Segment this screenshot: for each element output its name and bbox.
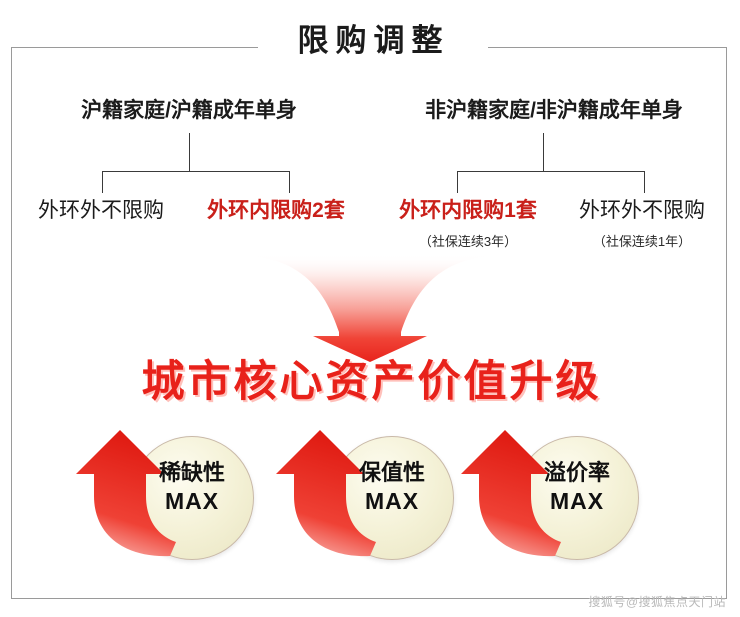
policy-main-4: 外环外不限购 <box>556 197 728 225</box>
badge-label-2: 保值性 <box>328 460 456 486</box>
badge-label-3: 溢价率 <box>513 460 641 486</box>
watermark: 搜狐号@搜狐焦点天门站 <box>588 593 726 610</box>
policy-sub-3: （社保连续3年） <box>378 228 558 256</box>
badge-text-1: 稀缺性 MAX <box>128 460 256 515</box>
connector-right-stem <box>543 133 544 171</box>
policy-label-2: 外环内限购2套 <box>186 197 366 228</box>
policy-main-3: 外环内限购1套 <box>378 197 558 225</box>
connector-right-bar <box>457 171 645 172</box>
connector-right-drop-2 <box>644 171 645 193</box>
badge-text-3: 溢价率 MAX <box>513 460 641 515</box>
page-title: 限购调整 <box>0 21 740 61</box>
badge-value-retention: 保值性 MAX <box>272 422 472 572</box>
category-header-local: 沪籍家庭/沪籍成年单身 <box>44 96 334 126</box>
policy-main-1: 外环外不限购 <box>16 197 186 225</box>
badge-label-1: 稀缺性 <box>128 460 256 486</box>
connector-left-stem <box>189 133 190 171</box>
infographic-root: 限购调整 沪籍家庭/沪籍成年单身 非沪籍家庭/非沪籍成年单身 外环外不限购 外环… <box>0 0 740 617</box>
connector-right-drop-1 <box>457 171 458 193</box>
badge-row: 稀缺性 MAX 保值性 MAX <box>0 422 740 572</box>
policy-label-3: 外环内限购1套 （社保连续3年） <box>378 197 558 256</box>
policy-sub-4: （社保连续1年） <box>556 228 728 256</box>
connector-left-drop-2 <box>289 171 290 193</box>
headline-text: 城市核心资产价值升级 <box>0 356 740 408</box>
policy-label-1: 外环外不限购 <box>16 197 186 228</box>
connector-left-drop-1 <box>102 171 103 193</box>
badge-max-2: MAX <box>328 488 456 515</box>
connector-left-bar <box>102 171 290 172</box>
badge-text-2: 保值性 MAX <box>328 460 456 515</box>
badge-max-3: MAX <box>513 488 641 515</box>
policy-main-2: 外环内限购2套 <box>186 197 366 225</box>
badge-scarcity: 稀缺性 MAX <box>72 422 272 572</box>
funnel-arrow-icon <box>243 254 498 364</box>
policy-label-4: 外环外不限购 （社保连续1年） <box>556 197 728 256</box>
badge-premium-rate: 溢价率 MAX <box>457 422 657 572</box>
badge-max-1: MAX <box>128 488 256 515</box>
category-header-nonlocal: 非沪籍家庭/非沪籍成年单身 <box>394 96 714 126</box>
